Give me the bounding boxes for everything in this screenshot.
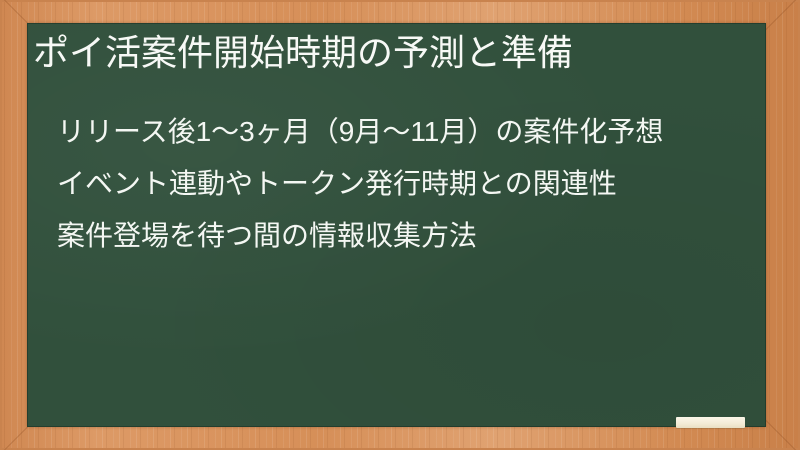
- bullet-list: リリース後1〜3ヶ月（9月〜11月）の案件化予想 イベント連動やトークン発行時期…: [57, 106, 747, 262]
- slide-title: ポイ活案件開始時期の予測と準備: [33, 31, 733, 75]
- bullet-item: リリース後1〜3ヶ月（9月〜11月）の案件化予想: [57, 106, 747, 158]
- chalkboard-slide: ポイ活案件開始時期の予測と準備 リリース後1〜3ヶ月（9月〜11月）の案件化予想…: [0, 0, 800, 450]
- bullet-item: 案件登場を待つ間の情報収集方法: [57, 210, 747, 262]
- bullet-item: イベント連動やトークン発行時期との関連性: [57, 158, 747, 210]
- chalk-stick-icon: [676, 417, 745, 428]
